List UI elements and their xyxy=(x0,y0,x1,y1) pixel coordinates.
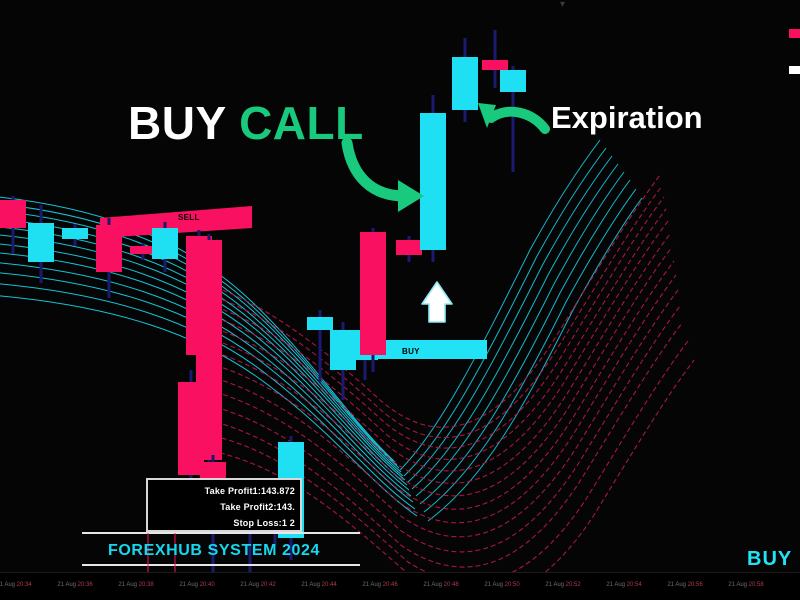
price-marker-group xyxy=(789,29,800,74)
time-axis-tick: 21 Aug 20:52 xyxy=(545,582,580,588)
time-axis-tick: 21 Aug 20:36 xyxy=(57,582,92,588)
time-axis-tick: 21 Aug 20:50 xyxy=(484,582,519,588)
candle-body xyxy=(500,70,526,92)
time-axis-tick: 21 Aug 20:58 xyxy=(728,582,763,588)
take-profit-1-row: Take Profit1:143.872 xyxy=(153,483,295,499)
candle-body xyxy=(396,240,422,255)
buy-call-word-call: CALL xyxy=(239,97,364,149)
candle-body xyxy=(28,223,54,262)
time-axis-tick: 21 Aug 20:48 xyxy=(423,582,458,588)
candle-body xyxy=(420,113,446,250)
buy-arrow-signal-icon xyxy=(422,282,452,322)
brand-watermark: FOREXHUB SYSTEM 2024 xyxy=(108,543,320,559)
time-axis-tick: 21 Aug 20:42 xyxy=(240,582,275,588)
expiration-annotation: Expiration xyxy=(551,102,703,133)
buy-call-word-buy: BUY xyxy=(128,97,226,149)
time-axis-tick: 21 Aug 20:38 xyxy=(118,582,153,588)
price-marker-bear xyxy=(789,29,800,38)
take-profit-2-row: Take Profit2:143. xyxy=(153,499,295,515)
candle-body xyxy=(360,232,386,355)
candle-body xyxy=(0,200,26,228)
candle-body xyxy=(307,317,333,330)
time-axis: 21 Aug 20:3421 Aug 20:3621 Aug 20:3821 A… xyxy=(0,572,800,600)
price-marker-current xyxy=(789,66,800,74)
buy-side-label: BUY xyxy=(747,549,792,569)
candle-body xyxy=(452,57,478,110)
candle-body xyxy=(482,60,508,70)
buy-call-annotation: BUY CALL xyxy=(128,100,364,146)
candle-body xyxy=(62,228,88,239)
time-axis-tick: 21 Aug 20:46 xyxy=(362,582,397,588)
candle-body xyxy=(152,228,178,259)
sell-zone-label: SELL xyxy=(178,214,200,222)
time-axis-tick: 21 Aug 20:54 xyxy=(606,582,641,588)
stop-loss-row: Stop Loss:1 2 xyxy=(153,515,295,531)
buy-zone-label: BUY xyxy=(402,348,420,356)
time-axis-tick: 21 Aug 20:44 xyxy=(301,582,336,588)
candle-body xyxy=(96,225,122,272)
time-axis-tick: 21 Aug 20:34 xyxy=(0,582,32,588)
candle-body xyxy=(178,382,204,475)
trading-chart-screenshot: ▾ BUY CALL Expiration SELL BUY Take Prof… xyxy=(0,0,800,600)
top-caret-icon: ▾ xyxy=(560,0,565,10)
time-axis-tick: 21 Aug 20:40 xyxy=(179,582,214,588)
buy-call-arrow-icon xyxy=(347,143,424,212)
price-chart-canvas xyxy=(0,0,800,600)
signal-info-panel: Take Profit1:143.872 Take Profit2:143. S… xyxy=(146,478,302,532)
time-axis-tick: 21 Aug 20:56 xyxy=(667,582,702,588)
